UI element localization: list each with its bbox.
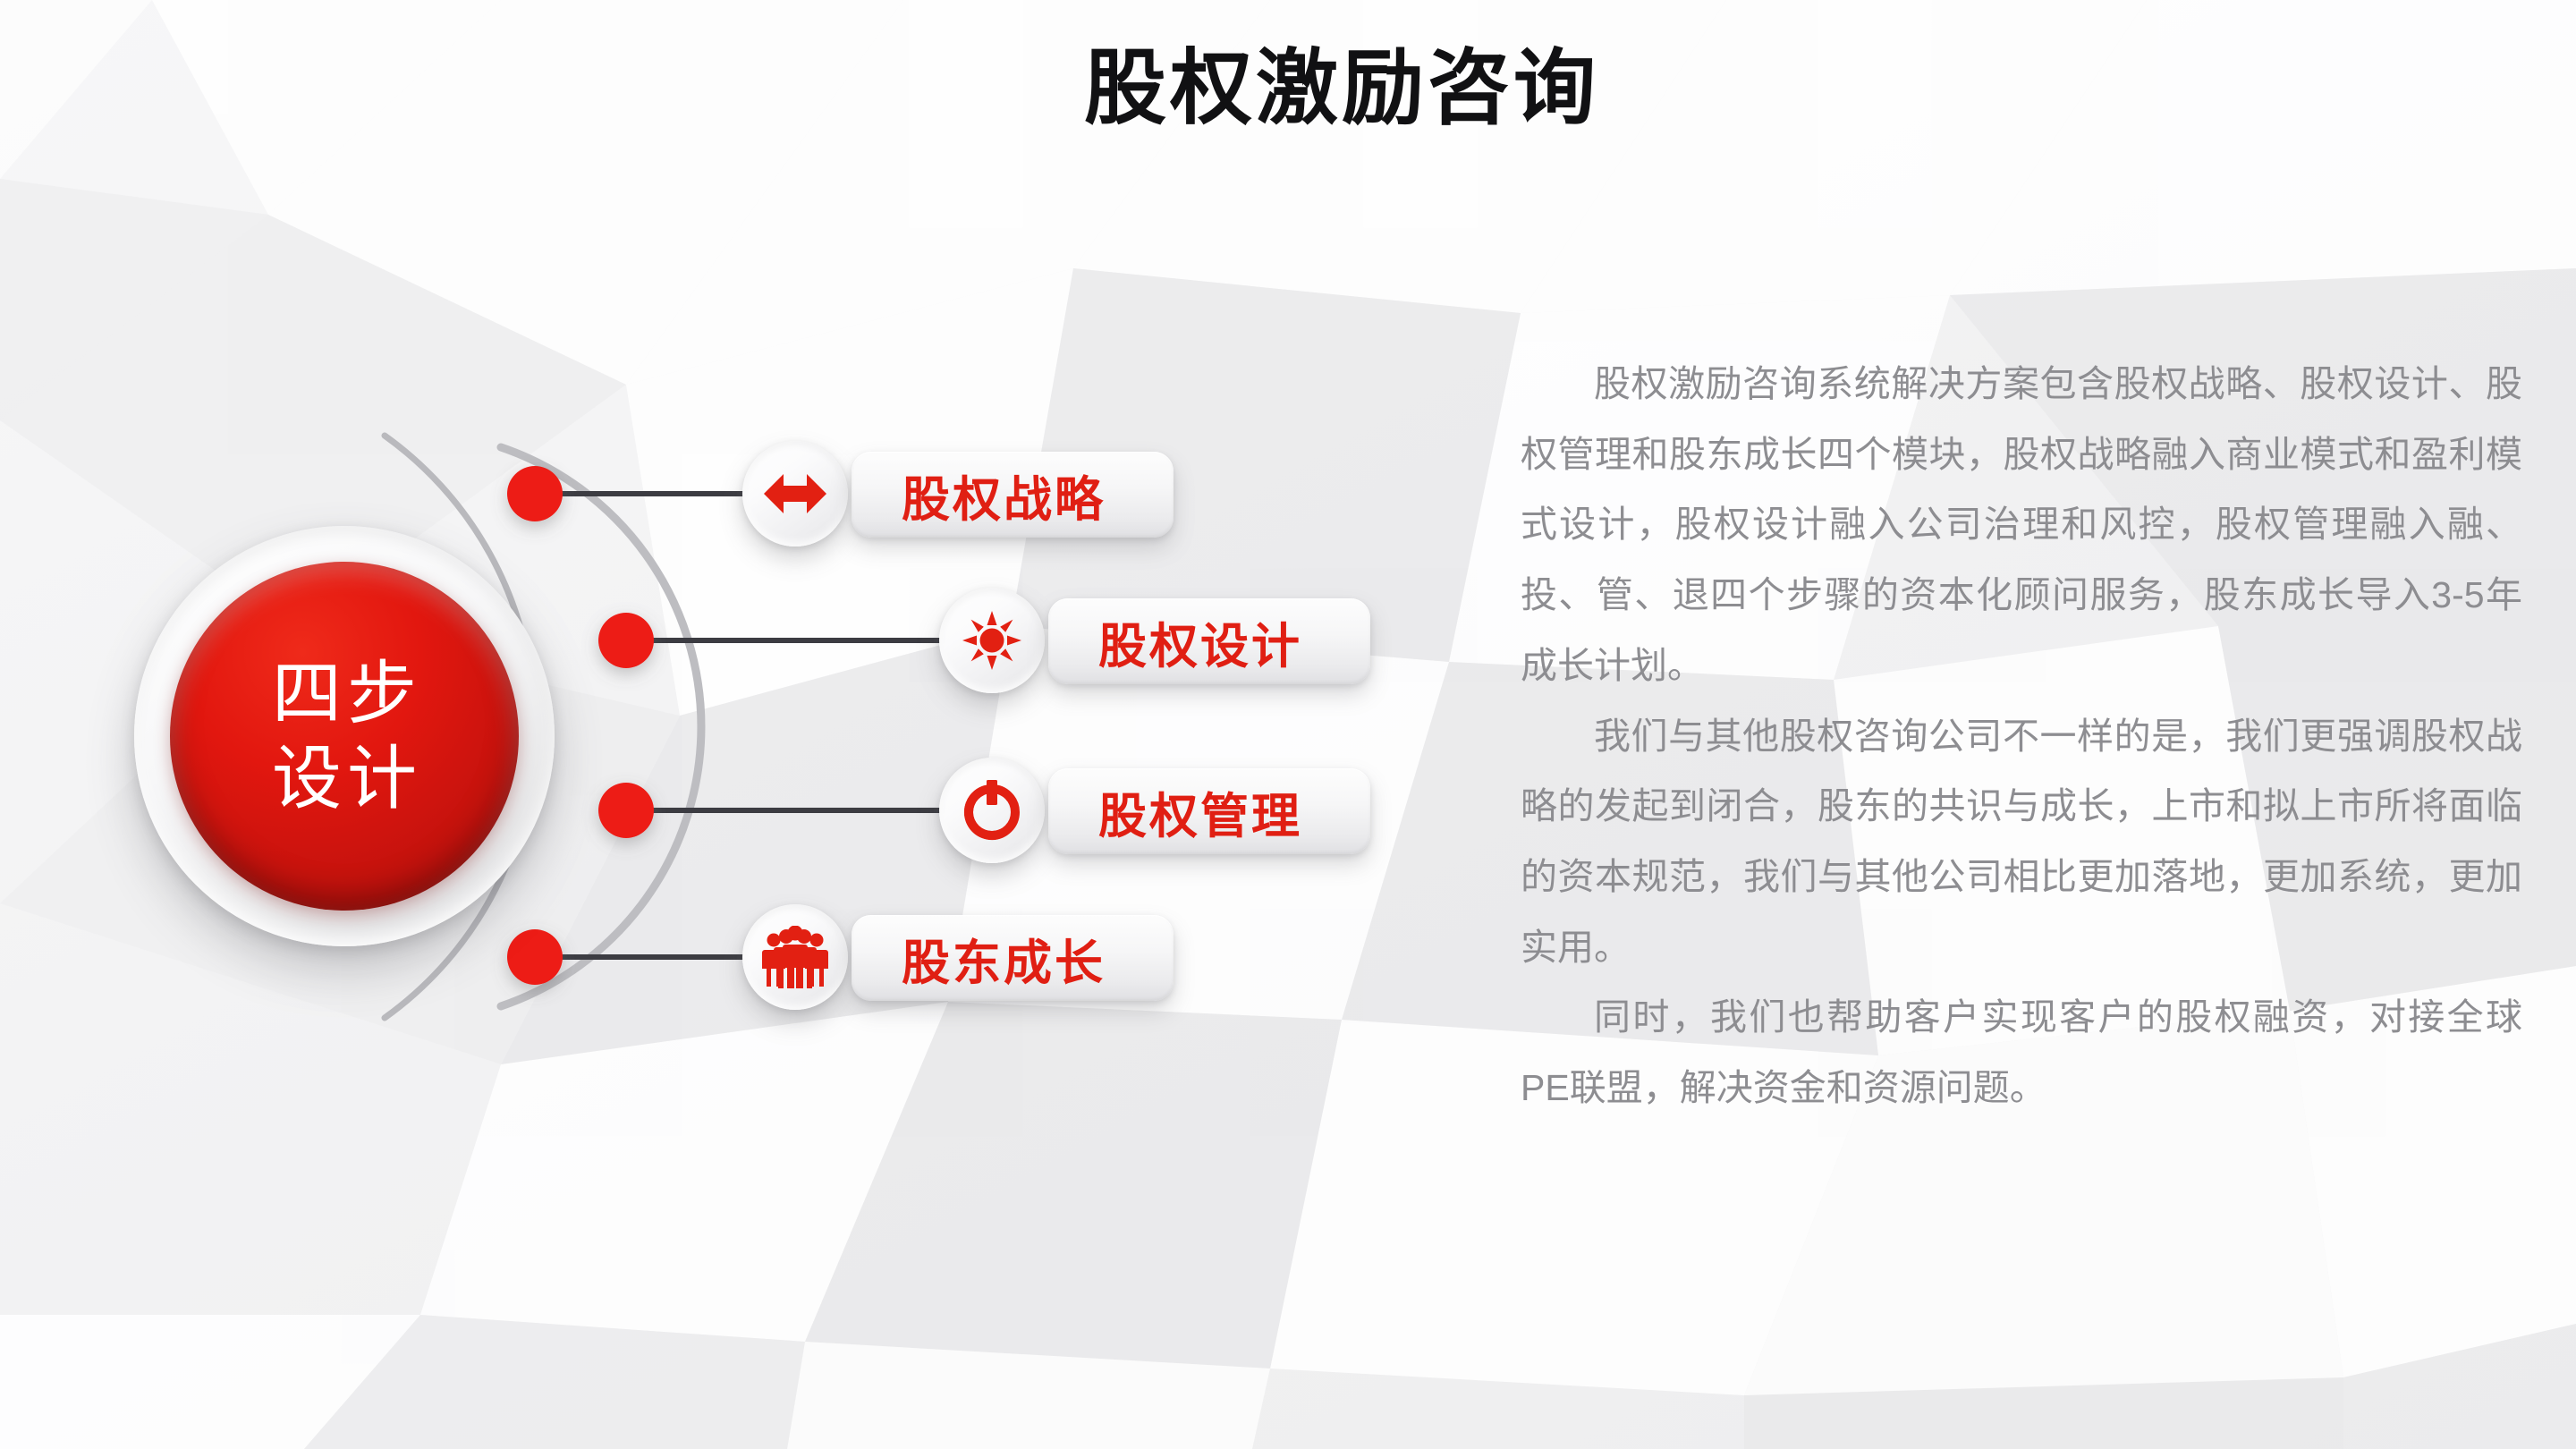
center-hub-disc: 四步 设计 xyxy=(170,562,519,911)
node-dot-2 xyxy=(598,613,654,668)
step-pill-3[interactable]: 股权管理 xyxy=(1048,768,1370,854)
step-label-1: 股权战略 xyxy=(852,460,1106,530)
step-pill-2[interactable]: 股权设计 xyxy=(1048,598,1370,684)
node-dot-3 xyxy=(598,783,654,838)
node-dot-1 xyxy=(507,466,563,521)
slide-canvas: 股权激励咨询 xyxy=(0,0,2576,1449)
step-label-2: 股权设计 xyxy=(1048,606,1302,677)
step-label-4: 股东成长 xyxy=(852,923,1106,994)
step-icon-bubble-1[interactable] xyxy=(742,441,848,547)
arrows-left-right-icon xyxy=(764,470,826,518)
power-button-icon xyxy=(963,780,1021,841)
step-pill-4[interactable]: 股东成长 xyxy=(852,915,1174,1001)
people-group-icon xyxy=(762,926,828,988)
sun-burst-icon xyxy=(962,611,1021,670)
four-step-diagram: 四步 设计 股权战略 xyxy=(0,0,1521,1449)
hub-label-line-2: 设计 xyxy=(267,736,422,821)
body-copy: 股权激励咨询系统解决方案包含股权战略、股权设计、股权管理和股东成长四个模块，股权… xyxy=(1521,349,2522,1123)
body-paragraph-2: 我们与其他股权咨询公司不一样的是，我们更强调股权战略的发起到闭合，股东的共识与成… xyxy=(1521,701,2522,983)
hub-label-line-1: 四步 xyxy=(267,651,422,736)
body-paragraph-3: 同时，我们也帮助客户实现客户的股权融资，对接全球PE联盟，解决资金和资源问题。 xyxy=(1521,982,2522,1123)
step-icon-bubble-2[interactable] xyxy=(939,588,1045,693)
center-hub: 四步 设计 xyxy=(134,526,555,946)
body-paragraph-1: 股权激励咨询系统解决方案包含股权战略、股权设计、股权管理和股东成长四个模块，股权… xyxy=(1521,349,2522,701)
step-pill-1[interactable]: 股权战略 xyxy=(852,452,1174,538)
step-icon-bubble-3[interactable] xyxy=(939,758,1045,863)
step-label-3: 股权管理 xyxy=(1048,776,1302,847)
step-icon-bubble-4[interactable] xyxy=(742,904,848,1010)
node-dot-4 xyxy=(507,929,563,985)
